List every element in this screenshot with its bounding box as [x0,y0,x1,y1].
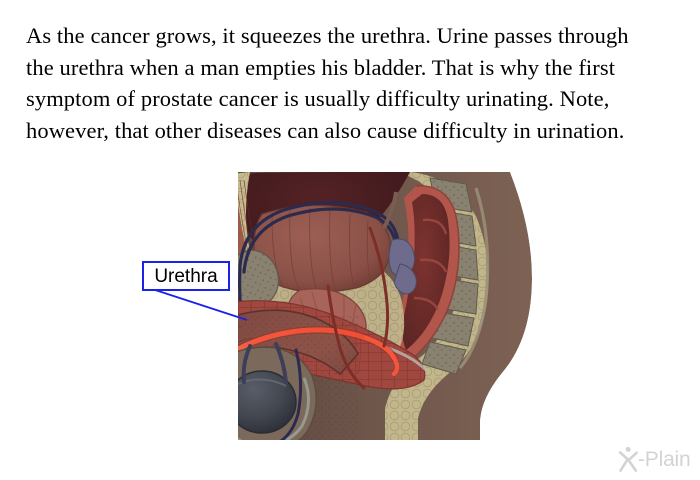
brand-logo-text: -Plain [638,449,691,470]
urethra-callout-label: Urethra [142,261,230,291]
caption-paragraph: As the cancer grows, it squeezes the ure… [26,20,646,146]
x-person-icon [618,446,639,472]
brand-logo: -Plain [618,444,694,474]
urethra-callout-text: Urethra [154,267,217,286]
callout-leader-line [140,285,270,330]
scrotum-testicle [209,344,316,448]
glans [180,366,196,424]
page-root: As the cancer grows, it squeezes the ure… [0,0,700,480]
